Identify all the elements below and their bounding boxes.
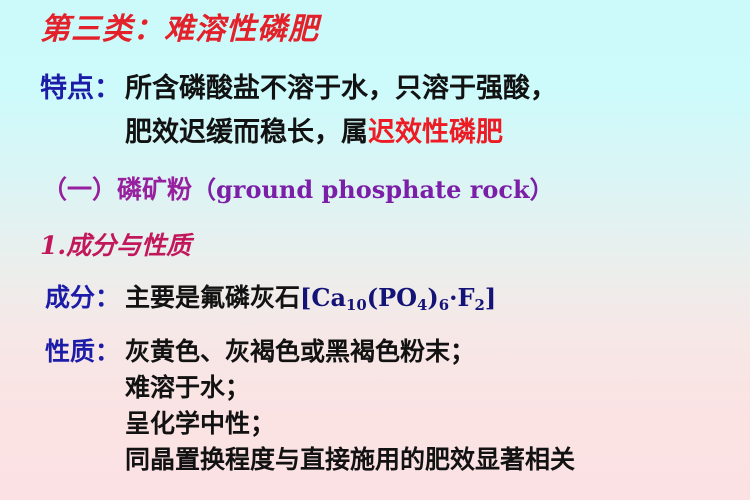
section-heading: （一）磷矿粉（ground phosphate rock） [42,170,554,206]
property-line-3: 呈化学中性； [125,404,275,440]
composition-value: 主要是氟磷灰石[Ca10(PO4)6·F2] [125,278,496,314]
slide-title: 第三类：难溶性磷肥 [40,4,319,48]
composition-label: 成分： [45,278,120,314]
property-line-2: 难溶于水； [125,368,250,404]
chemical-formula: [Ca10(PO4)6·F2] [300,283,496,312]
subsection-heading: 1.成分与性质 [40,226,191,262]
feature-emphasis-text: 迟效性磷肥 [368,117,503,148]
subsection-number: 1. [40,231,66,260]
section-english-name: （ground phosphate rock） [192,175,554,204]
composition-text: 主要是氟磷灰石 [125,283,300,312]
feature-label: 特点： [40,66,121,105]
feature-line-2: 肥效迟缓而稳长，属迟效性磷肥 [125,110,503,149]
feature-line-1: 所含磷酸盐不溶于水，只溶于强酸， [125,66,557,105]
slide-canvas: 第三类：难溶性磷肥 特点： 所含磷酸盐不溶于水，只溶于强酸， 肥效迟缓而稳长，属… [0,0,750,500]
section-number: （一） [42,175,117,204]
property-line-4: 同晶置换程度与直接施用的肥效显著相关 [125,440,575,476]
property-line-1: 灰黄色、灰褐色或黑褐色粉末； [125,332,475,368]
feature-line-2-prefix: 肥效迟缓而稳长，属 [125,117,368,148]
subsection-title: 成分与性质 [66,231,191,260]
section-name: 磷矿粉 [117,175,192,204]
properties-label: 性质： [45,332,120,368]
